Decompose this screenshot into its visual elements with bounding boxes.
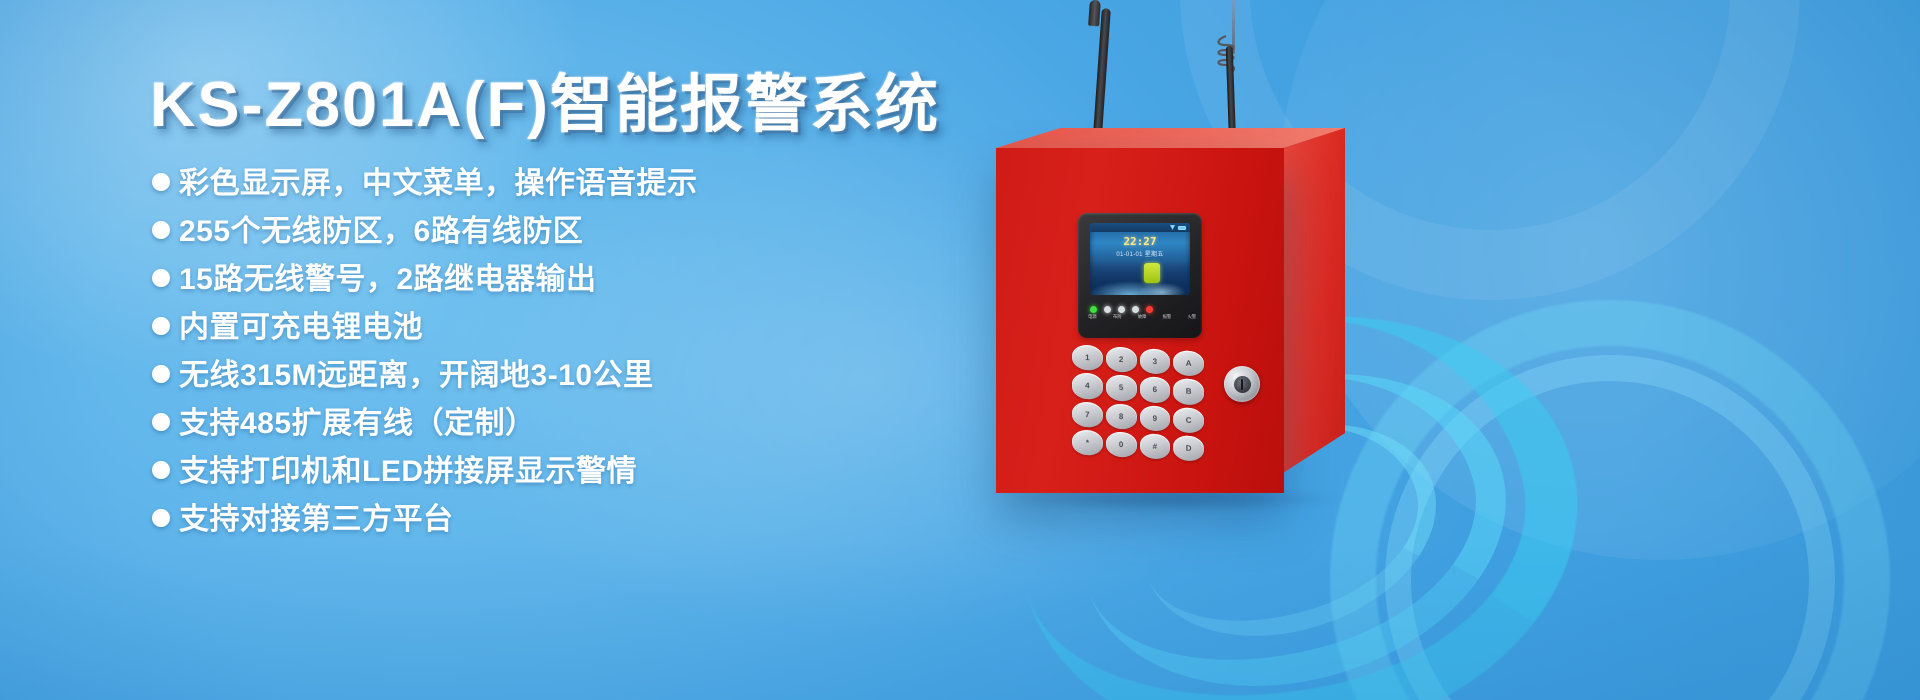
list-item: 无线315M远距离，开阔地3-10公里 bbox=[152, 350, 698, 398]
led-fire-icon bbox=[1146, 306, 1153, 313]
keypad-key[interactable]: 8 bbox=[1106, 403, 1137, 430]
bullet-icon bbox=[152, 413, 170, 431]
bullet-icon bbox=[152, 221, 170, 239]
led-label: 火警 bbox=[1188, 314, 1196, 320]
bullet-icon bbox=[152, 269, 170, 287]
antenna-left-tip-icon bbox=[1088, 0, 1101, 26]
list-item: 255个无线防区，6路有线防区 bbox=[152, 206, 698, 254]
keypad-key[interactable]: 5 bbox=[1106, 374, 1137, 401]
keypad-key[interactable]: D bbox=[1173, 435, 1204, 462]
feature-text: 支持485扩展有线（定制） bbox=[179, 398, 536, 442]
list-item: 支持485扩展有线（定制） bbox=[152, 398, 698, 446]
display-bezel: 22:27 01-01-01 星期五 电源 布防 故障 报警 火警 bbox=[1078, 213, 1202, 338]
led-label-row: 电源 布防 故障 报警 火警 bbox=[1088, 314, 1196, 320]
keypad-key[interactable]: 6 bbox=[1140, 376, 1171, 403]
led-arm-icon bbox=[1104, 306, 1111, 313]
product-banner: KS-Z801A(F)智能报警系统 彩色显示屏，中文菜单，操作语音提示 255个… bbox=[0, 0, 1920, 700]
led-fault-icon bbox=[1118, 306, 1125, 313]
lcd-time-text: 22:27 bbox=[1090, 235, 1190, 248]
keypad-key[interactable]: 9 bbox=[1140, 405, 1171, 432]
lcd-display: 22:27 01-01-01 星期五 bbox=[1090, 223, 1190, 295]
lock-core bbox=[1234, 376, 1251, 393]
lcd-status-bar bbox=[1090, 223, 1190, 232]
list-item: 支持打印机和LED拼接屏显示警情 bbox=[152, 446, 698, 494]
device-front-face: 22:27 01-01-01 星期五 电源 布防 故障 报警 火警 bbox=[996, 148, 1284, 493]
bullet-icon bbox=[152, 173, 170, 191]
bullet-icon bbox=[152, 317, 170, 335]
led-alarm-icon bbox=[1132, 306, 1139, 313]
lcd-wallpaper bbox=[1090, 261, 1190, 295]
keypad-key[interactable]: 2 bbox=[1106, 346, 1137, 373]
lock-keyhole bbox=[1241, 379, 1243, 390]
keypad-key[interactable]: 0 bbox=[1106, 431, 1137, 458]
feature-list: 彩色显示屏，中文菜单，操作语音提示 255个无线防区，6路有线防区 15路无线警… bbox=[152, 158, 698, 542]
lock-icon[interactable] bbox=[1224, 366, 1260, 402]
keypad-key[interactable]: A bbox=[1173, 350, 1204, 377]
bullet-icon bbox=[152, 365, 170, 383]
feature-text: 支持对接第三方平台 bbox=[179, 494, 454, 538]
keypad-key[interactable]: 4 bbox=[1072, 373, 1103, 400]
keypad-key[interactable]: 7 bbox=[1072, 401, 1103, 428]
battery-icon bbox=[1178, 226, 1186, 230]
feature-text: 15路无线警号，2路继电器输出 bbox=[179, 254, 597, 298]
bullet-icon bbox=[152, 509, 170, 527]
keypad-key[interactable]: B bbox=[1173, 378, 1204, 405]
banner-text-block: KS-Z801A(F)智能报警系统 彩色显示屏，中文菜单，操作语音提示 255个… bbox=[0, 0, 960, 700]
device-side-face bbox=[1283, 128, 1345, 473]
page-title: KS-Z801A(F)智能报警系统 bbox=[150, 54, 940, 145]
feature-text: 内置可充电锂电池 bbox=[179, 302, 423, 346]
keypad-key[interactable]: * bbox=[1072, 429, 1103, 456]
feature-text: 255个无线防区，6路有线防区 bbox=[179, 206, 583, 250]
keypad-key[interactable]: C bbox=[1173, 406, 1204, 433]
list-item: 内置可充电锂电池 bbox=[152, 302, 698, 350]
feature-text: 彩色显示屏，中文菜单，操作语音提示 bbox=[179, 158, 698, 202]
led-label: 报警 bbox=[1163, 314, 1171, 320]
keypad-key[interactable]: 1 bbox=[1072, 344, 1103, 371]
numeric-keypad[interactable]: 1 2 3 A 4 5 6 B 7 8 9 C * 0 # D bbox=[1072, 344, 1204, 461]
signal-icon bbox=[1170, 225, 1175, 230]
keypad-key[interactable]: 3 bbox=[1140, 348, 1171, 375]
feature-text: 支持打印机和LED拼接屏显示警情 bbox=[179, 446, 637, 490]
led-label: 布防 bbox=[1113, 314, 1121, 320]
lcd-date-text: 01-01-01 星期五 bbox=[1090, 249, 1190, 258]
alarm-control-panel: 22:27 01-01-01 星期五 电源 布防 故障 报警 火警 bbox=[980, 0, 1480, 700]
list-item: 支持对接第三方平台 bbox=[152, 494, 698, 542]
led-label: 电源 bbox=[1088, 314, 1096, 320]
bullet-icon bbox=[152, 461, 170, 479]
led-label: 故障 bbox=[1138, 314, 1146, 320]
keypad-key[interactable]: # bbox=[1140, 433, 1171, 460]
feature-text: 无线315M远距离，开阔地3-10公里 bbox=[179, 350, 654, 394]
led-power-icon bbox=[1090, 306, 1097, 313]
list-item: 15路无线警号，2路继电器输出 bbox=[152, 254, 698, 302]
list-item: 彩色显示屏，中文菜单，操作语音提示 bbox=[152, 158, 698, 206]
